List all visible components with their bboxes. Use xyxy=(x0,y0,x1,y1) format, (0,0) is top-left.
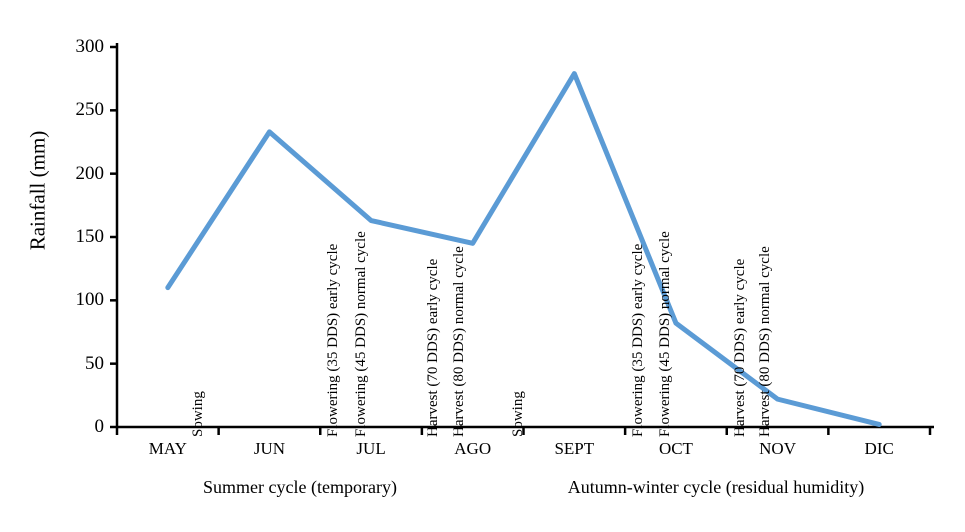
x-tick-label: SEPT xyxy=(524,439,624,459)
x-tick-label: AGO xyxy=(423,439,523,459)
chart-annotation: Flowering (45 DDS) normal cycle xyxy=(354,231,369,437)
x-tick-label: DIC xyxy=(829,439,929,459)
chart-annotation: Flowering (35 DDS) early cycle xyxy=(631,244,646,437)
chart-annotation: Harvest (80 DDS) normal cycle xyxy=(452,246,467,437)
rainfall-line-chart: Rainfall (mm) 050100150200250300 MAYJUNJ… xyxy=(0,0,965,532)
chart-annotation: Harvest (70 DDS) early cycle xyxy=(426,259,441,437)
x-tick-label: JUN xyxy=(219,439,319,459)
chart-annotation: Harvest (70 DDS) early cycle xyxy=(733,259,748,437)
chart-annotation: Sowing xyxy=(191,391,206,437)
x-tick-label: MAY xyxy=(118,439,218,459)
x-tick-label: NOV xyxy=(728,439,828,459)
chart-annotation: Flowering (35 DDS) early cycle xyxy=(326,244,341,437)
chart-annotation: Harvest (80 DDS) normal cycle xyxy=(758,246,773,437)
chart-annotation: Flowering (45 DDS) normal cycle xyxy=(658,231,673,437)
chart-annotation: Sowing xyxy=(511,391,526,437)
x-tick-label: JUL xyxy=(321,439,421,459)
x-tick-label: OCT xyxy=(626,439,726,459)
cycle-label: Autumn-winter cycle (residual humidity) xyxy=(466,477,965,498)
